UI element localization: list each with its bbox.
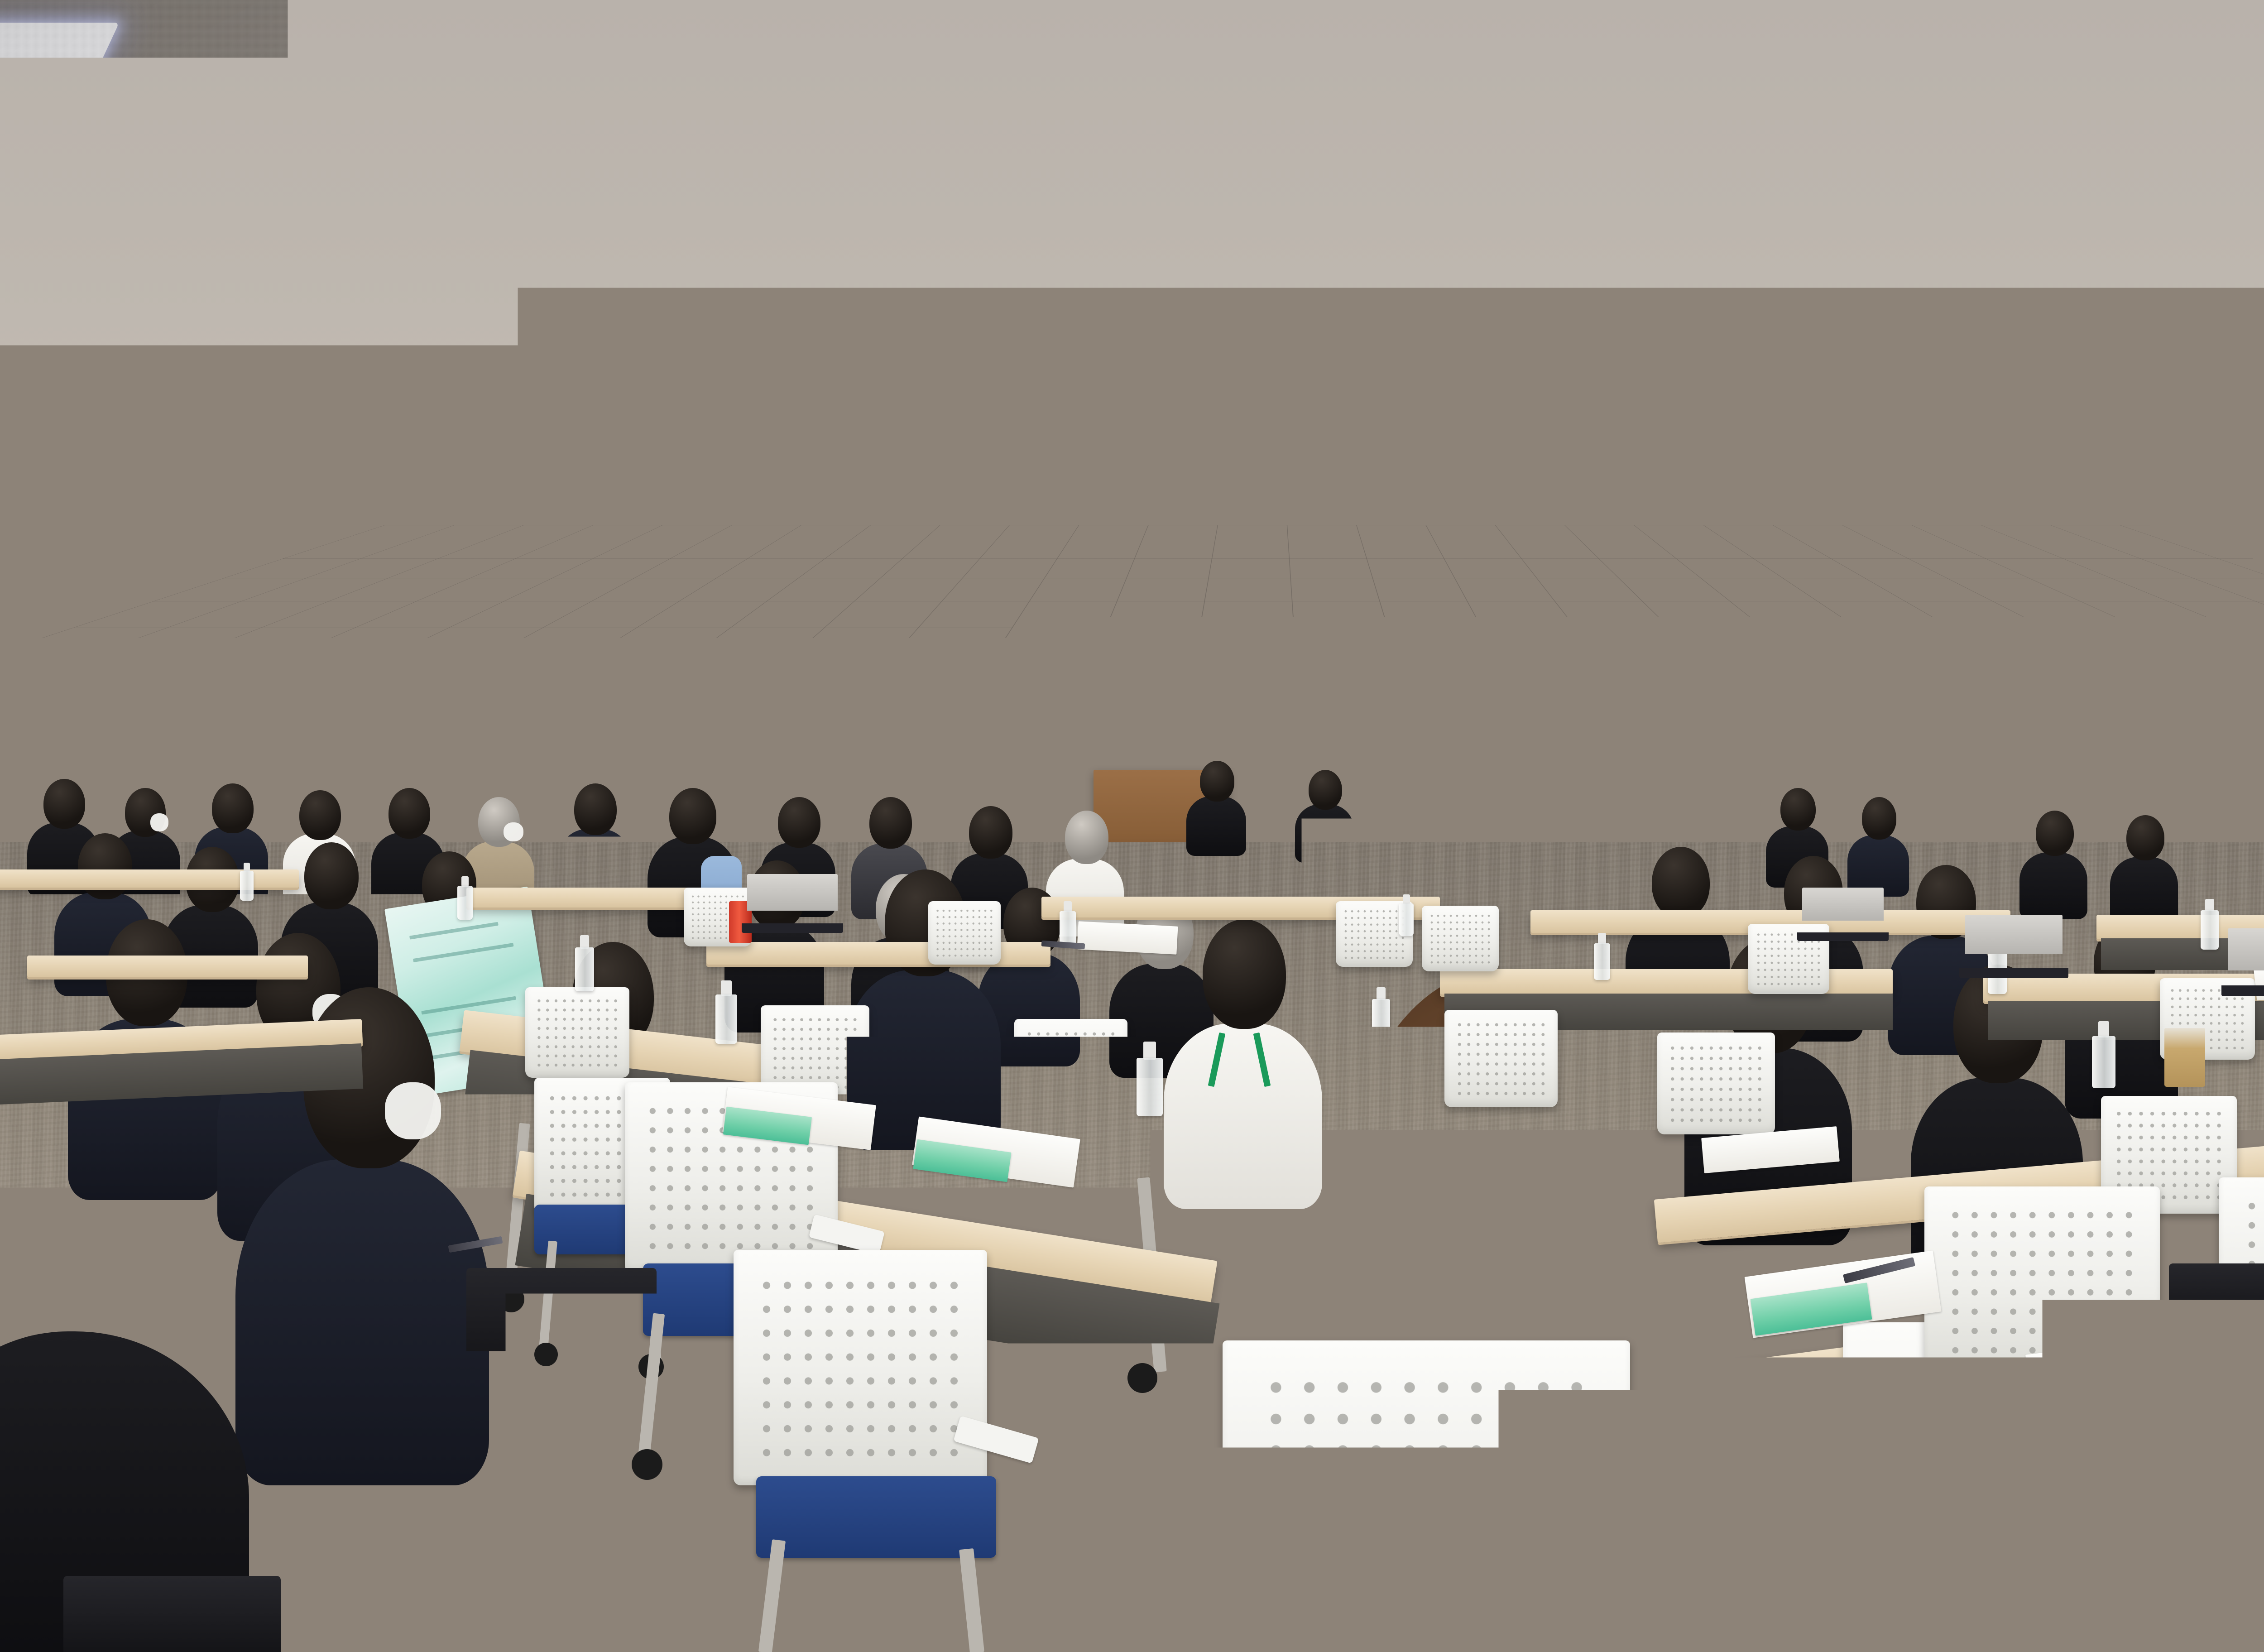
projector-vent-icon (1902, 510, 1933, 530)
handout-paper (1077, 921, 1178, 954)
attendee (1186, 761, 1246, 856)
chair (1444, 1010, 1558, 1107)
attendee (1512, 779, 1571, 872)
ceiling-light-panel (475, 163, 603, 202)
ceiling-light-panel (2119, 334, 2202, 359)
ceiling-light-panel (2160, 451, 2221, 466)
slide-speaker-name: 成宮 周 (1538, 735, 1603, 755)
ceiling-light-panel (309, 370, 390, 393)
ceiling-light-panel (43, 457, 102, 474)
attendee-head (1862, 797, 1896, 840)
slide-organization: 公益財団法人 神戸医療産業都市推進機構 理事長 (977, 678, 1116, 686)
recessed-downlight (1549, 437, 1566, 449)
water-bottle (575, 935, 594, 991)
recessed-downlight (1943, 450, 1959, 461)
attendee-head (1309, 770, 1342, 810)
chair-perforation (935, 908, 994, 957)
bottle-body (240, 871, 254, 901)
attendee-torso (2110, 857, 2178, 924)
attendee-head (299, 790, 341, 840)
ceiling-light-panel (1467, 435, 1525, 451)
chair-seat-cushion (756, 1476, 996, 1558)
smoke-detector-icon (2124, 469, 2141, 478)
attendee-head (574, 783, 617, 835)
wall-seam (136, 620, 444, 622)
screen-right: 再生医療産業化 フォーラム 2024 開会挨拶 公益財団法人 神戸医療産業都市推… (2026, 580, 2264, 815)
brochure-line (413, 943, 513, 962)
bottle-body (457, 886, 473, 920)
screen-center: 再生医療産業化 フォーラム 2024 開会挨拶 公益財団法人 神戸医療産業都市推… (1399, 598, 1648, 790)
bottle-cap (461, 876, 469, 887)
attendee-head (1065, 811, 1108, 864)
face-mask (504, 822, 523, 841)
attendee-head (389, 788, 430, 839)
chair-backrest (734, 1250, 987, 1485)
slide-badge (1056, 614, 1103, 636)
ceiling-light-panel (1822, 325, 1905, 350)
bottle-body (1060, 911, 1076, 946)
recessed-downlight (1050, 192, 1077, 210)
bag (63, 1576, 281, 1652)
face-mask (223, 768, 237, 783)
attendee-head (869, 797, 912, 849)
face-mask (385, 1082, 441, 1139)
chair-perforation (2113, 1108, 2225, 1200)
chair-perforation (1946, 1205, 2139, 1354)
bottle-cap (721, 980, 731, 996)
screen-frame: 再生医療産業化 フォーラム 2024 開会挨拶 公益財団法人 神戸医療産業都市推… (960, 602, 1133, 738)
attendee (2110, 815, 2178, 924)
ceiling-light-panel (1714, 313, 1799, 339)
face-mask (102, 758, 115, 772)
ceiling-light-panel (1882, 442, 1942, 458)
ceiling-light-panel (238, 453, 297, 469)
ceiling-light-panel (837, 440, 895, 456)
slide-organization: 公益財団法人 神戸医療産業都市推進機構 理事長 (2063, 711, 2264, 728)
attendee-head (141, 747, 173, 784)
chair-perforation (1343, 908, 1405, 959)
bottle-cap (1403, 894, 1410, 904)
bottle-cap (1377, 987, 1385, 1000)
ceiling-light-panel (1100, 312, 1183, 338)
chair-caster (1807, 1522, 1842, 1557)
face-mask (150, 813, 168, 831)
air-vent (2187, 154, 2264, 181)
ceiling-light-panel (1735, 145, 1864, 186)
attendee-head (587, 743, 619, 781)
screen-frame: 再生医療産業化 フォーラム 2024 開会挨拶 公益財団法人 神戸医療産業都市推… (2026, 580, 2264, 815)
ceiling-light-panel (701, 448, 760, 464)
logo-mark-icon (1415, 618, 1430, 633)
laptop-lid (2228, 928, 2264, 970)
bottle-body (1399, 903, 1414, 936)
attendee-head (1652, 847, 1710, 918)
ceiling-light-panel (1117, 131, 1243, 173)
chair-perforation (1259, 1372, 1593, 1615)
attendee-head (394, 747, 426, 784)
attendee (1444, 770, 1502, 865)
attendee-head (265, 745, 297, 782)
chair (1657, 1032, 1775, 1134)
water-bottle (2201, 899, 2219, 950)
screen-left: 再生医療産業化 フォーラム 2024 開会挨拶 公益財団法人 神戸医療産業都市推… (960, 602, 1133, 738)
attendee-head (1200, 761, 1234, 802)
ceiling-light-panel (625, 186, 748, 223)
attendee-head (669, 788, 716, 844)
ceiling-light-panel (1537, 437, 1595, 453)
recessed-downlight (1159, 437, 1176, 449)
attendee-torso (1444, 805, 1502, 865)
conference-photo: 再生医療産業化 フォーラム 2024 開会挨拶 公益財団法人 神戸医療産業都市推… (0, 0, 2264, 1652)
laptop-keyboard (2221, 985, 2264, 996)
attendee-head (650, 747, 682, 784)
table-row-mid-left (27, 956, 308, 977)
water-bottle (240, 863, 254, 901)
ceiling-light-panel (1408, 309, 1491, 334)
ceiling-projector (1829, 498, 1943, 539)
ceiling-light-panel (2090, 448, 2151, 465)
bottle-cap (2205, 899, 2214, 911)
table-top (0, 869, 299, 888)
wall-clock (68, 586, 113, 632)
bottle-body (2092, 1036, 2115, 1088)
attendee-torso (1186, 796, 1246, 856)
attendee-head (25, 743, 57, 780)
projector-lens-icon (1837, 509, 1869, 531)
water-bottle (1137, 1042, 1163, 1116)
logo-wordmark (1433, 621, 1492, 629)
slide-badge (2262, 597, 2264, 636)
attendee-head (304, 842, 359, 909)
attendee-head (2126, 815, 2164, 860)
ceiling-light-panel (2012, 322, 2099, 348)
attendee-head (1457, 770, 1491, 811)
slide-surface: 再生医療産業化 フォーラム 2024 開会挨拶 公益財団法人 神戸医療産業都市推… (964, 606, 1129, 734)
ceiling-light-panel (1887, 168, 2010, 206)
wall-monitor (0, 659, 44, 749)
screen-frame: 再生医療産業化 フォーラム 2024 開会挨拶 公益財団法人 神戸医療産業都市推… (1399, 598, 1648, 790)
chair-caster (632, 1449, 662, 1480)
bottle-cap (1143, 1042, 1156, 1060)
monitor-stand (5, 749, 12, 804)
ceiling-light-panel (1674, 437, 1733, 454)
bottle-body (1137, 1058, 1163, 1116)
chair-backrest (1444, 1010, 1558, 1107)
brochure-line (409, 922, 499, 940)
recessed-downlight (408, 466, 423, 476)
water-bottle (2092, 1021, 2115, 1088)
bottle-body (1594, 943, 1610, 980)
chair (928, 901, 1001, 965)
recessed-downlight (854, 311, 875, 325)
slide-forum-title: 再生医療産業化 フォーラム 2024 (2055, 659, 2264, 702)
chair-foreground-3 (1223, 1340, 1630, 1652)
ceiling-light-panel (209, 358, 293, 381)
ceiling-light-panel (501, 453, 560, 468)
logo-mark-icon (2051, 604, 2076, 621)
chair-perforation (1025, 1029, 1118, 1107)
laptop (2228, 928, 2264, 996)
ceiling-light-panel (518, 335, 602, 360)
slide-heading: 開会挨拶 (1063, 634, 1120, 652)
bottle-body (575, 947, 594, 991)
slide-organization: 公益財団法人 神戸医療産業都市推進機構 理事長 (1423, 705, 1625, 716)
bag (466, 1268, 657, 1381)
ceiling-light-panel (1208, 324, 1288, 349)
attendee-head (212, 783, 254, 833)
ceiling-light-panel (183, 235, 306, 271)
ceiling-light-panel (1176, 20, 1314, 67)
bottle-cap (1064, 901, 1071, 912)
air-vent (819, 19, 948, 64)
ceiling-light-panel (633, 444, 691, 460)
attendee-torso (1295, 804, 1354, 863)
ceiling-light-panel (902, 335, 983, 360)
laptop-lid (747, 874, 838, 911)
clock-minute-hand (88, 609, 91, 624)
slide-heading: 開会挨拶 (1549, 643, 1632, 668)
ceiling-light-panel (38, 213, 166, 249)
laptop (1965, 915, 2063, 978)
slide-forum-title: 再生医療産業化 フォーラム 2024 (1418, 664, 1611, 692)
ceiling-light-panel (1324, 437, 1381, 453)
chair-perforation (1429, 912, 1492, 964)
bag (1793, 1150, 1920, 1227)
clock-hour-hand (90, 597, 92, 609)
logo-wordmark (984, 620, 1025, 625)
laptop-keyboard (1959, 968, 2068, 978)
face-mask (542, 766, 556, 780)
table-row-back-left (0, 869, 299, 888)
smoke-detector-icon (869, 358, 893, 369)
chair-backrest (928, 901, 1001, 965)
smoke-detector-icon (312, 480, 329, 488)
attendee-torso (2019, 852, 2087, 919)
laptop-keyboard (742, 923, 843, 933)
air-vent (1462, 258, 1547, 288)
ceiling-light-panel (907, 444, 964, 459)
table-top (27, 956, 308, 977)
ceiling-light-panel (621, 348, 703, 371)
ceiling-light-panel (1348, 43, 1482, 87)
attendee-head (969, 806, 1012, 859)
ceiling-light-panel (1952, 445, 2012, 460)
attendee-head (1526, 779, 1559, 819)
projector-mount (1869, 474, 1886, 500)
chair-perforation (1668, 1043, 1764, 1123)
slide-logo-block (969, 611, 1046, 650)
monitor-screen (0, 661, 42, 747)
laptop-keyboard (1350, 872, 1426, 879)
ceiling-light-panel (433, 448, 492, 465)
attendee (2019, 811, 2087, 919)
smoke-detector-icon (1838, 294, 1866, 308)
logo-mark-icon (972, 618, 982, 628)
water-bottle (1060, 901, 1076, 946)
water-bottle (1399, 894, 1414, 936)
laptop (1802, 888, 1884, 941)
bag (2169, 1263, 2264, 1331)
attendee-torso (1512, 814, 1571, 872)
attendee-head (43, 779, 85, 829)
chair-perforation (756, 1273, 964, 1457)
table-caster (1127, 1363, 1157, 1393)
attendee-head (2036, 811, 2074, 856)
face-mask (350, 763, 365, 777)
water-bottle (715, 980, 737, 1044)
chair-perforation (1455, 1020, 1548, 1096)
water-bottle (1372, 987, 1390, 1041)
slide-speaker-name: 成宮 周 (1055, 698, 1101, 713)
logo-wordmark (2082, 608, 2182, 617)
ceiling-light-panel (0, 358, 72, 381)
ceiling-light-panel (1043, 437, 1102, 454)
water-bottle (1594, 933, 1610, 980)
chair-backrest (1014, 1019, 1127, 1119)
laptop (1354, 836, 1422, 879)
attendee-head (1780, 788, 1816, 831)
bottle-cap (580, 935, 589, 949)
laptop (747, 874, 838, 933)
bottle-cap (2098, 1021, 2110, 1037)
slide-badge (1538, 613, 1606, 644)
chair-perforation (771, 1015, 860, 1089)
ceiling-light-panel (1745, 440, 1804, 456)
coffee-cup (2164, 1028, 2205, 1087)
attendee (1295, 770, 1354, 863)
ceiling-light-panel (1254, 436, 1311, 452)
laptop-keyboard (1797, 932, 1889, 941)
water-bottle (457, 876, 473, 920)
chair-foreground-2 (734, 1250, 987, 1485)
chair-backrest (1422, 906, 1499, 971)
attendee-head (714, 752, 745, 789)
recessed-downlight (774, 448, 791, 459)
ceiling-light-panel (1516, 321, 1596, 345)
ceiling-light-panel (795, 322, 879, 347)
ceiling-light-panel (1271, 152, 1392, 192)
slide-forum-title: 再生医療産業化 フォーラム 2024 (974, 650, 1106, 669)
bottle-body (1372, 999, 1390, 1041)
chair (1014, 1019, 1127, 1119)
attendee-head (78, 833, 132, 899)
bottle-cap (244, 863, 250, 872)
attendee-head (778, 797, 820, 848)
ceiling-light-panel (305, 458, 363, 474)
attendee-head (459, 743, 491, 781)
chair-backrest (1657, 1032, 1775, 1134)
slide-logo-block (1410, 609, 1524, 664)
recessed-downlight (1696, 292, 1715, 305)
smoke-detector-icon (109, 470, 127, 479)
chair-backrest (1223, 1340, 1630, 1652)
ceiling-light-panel (86, 371, 169, 394)
attendee-head (1607, 783, 1642, 824)
slide-logo-block (2043, 593, 2237, 661)
laptop-lid (1354, 836, 1422, 862)
attendee-torso (235, 1159, 489, 1485)
chair (1422, 906, 1499, 971)
bottle-cap (1598, 933, 1606, 944)
bottle-body (715, 994, 737, 1044)
slide-surface: 再生医療産業化 フォーラム 2024 開会挨拶 公益財団法人 神戸医療産業都市推… (2030, 584, 2264, 811)
slide-surface: 再生医療産業化 フォーラム 2024 開会挨拶 公益財団法人 神戸医療産業都市推… (1403, 602, 1644, 786)
bottle-body (2201, 910, 2219, 950)
laptop-lid (1965, 915, 2063, 954)
smoke-detector-icon (1408, 214, 1444, 231)
laptop-lid (1802, 888, 1884, 921)
